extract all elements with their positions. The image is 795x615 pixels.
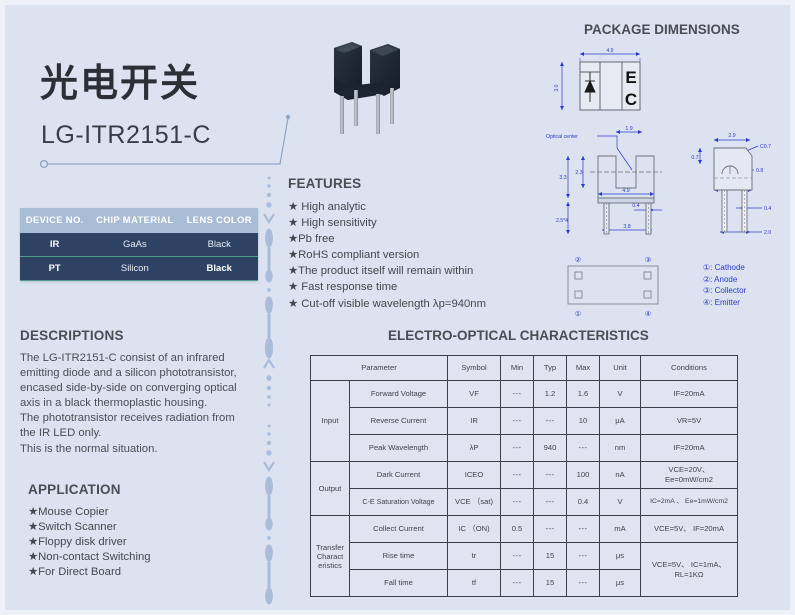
list-item: ★Floppy disk driver <box>28 535 151 550</box>
datasheet-page: 光电开关 LG-ITR2151-C DEVICE NO. CHIP MATERI… <box>0 0 795 615</box>
descriptions-body: The LG-ITR2151-C consist of an infrared … <box>20 351 270 457</box>
eoc-typ: 15 <box>534 570 567 597</box>
eoc-parameter: Forward Voltage <box>350 381 448 408</box>
dim-pin-pitch: 3.8 <box>623 224 630 230</box>
application-list: ★Mouse Copier ★Switch Scanner ★Floppy di… <box>28 505 151 580</box>
pad-number-4: ④ <box>645 310 651 318</box>
electro-optical-heading: ELECTRO-OPTICAL CHARACTERISTICS <box>388 328 649 343</box>
dim-aperture: 0.8 <box>756 168 763 174</box>
eoc-unit: V <box>600 489 641 516</box>
dim-body-height: 3.3 <box>559 175 566 181</box>
dim-slot-depth: 2.3 <box>575 170 582 176</box>
descriptions-heading: DESCRIPTIONS <box>20 328 124 343</box>
eoc-unit: nm <box>600 435 641 462</box>
eoc-max: 1.6 <box>567 381 600 408</box>
eoc-parameter: C-E Saturation Voltage <box>350 489 448 516</box>
features-list: ★ High analytic ★ High sensitivity ★Pb f… <box>288 199 486 312</box>
pin-legend-item: ③: Collector <box>703 285 746 297</box>
eoc-parameter: Peak Wavelength <box>350 435 448 462</box>
eoc-conditions: IF=20mA <box>641 381 738 408</box>
eoc-col-parameter: Parameter <box>311 356 448 381</box>
eoc-unit: V <box>600 381 641 408</box>
lens-color-pt: Black <box>180 257 258 281</box>
device-table-col-lens-color: LENS COLOR <box>180 208 258 233</box>
eoc-min: --- <box>501 462 534 489</box>
descriptions-line: the IR LED only. <box>20 426 270 441</box>
eoc-symbol: IC （ON) <box>448 516 501 543</box>
table-row: Input Forward Voltage VF --- 1.2 1.6 V I… <box>311 381 738 408</box>
features-heading: FEATURES <box>288 176 361 191</box>
descriptions-line: encased side-by-side on converging optic… <box>20 381 270 396</box>
eoc-conditions: IC=2mA 、 Ee=1mW/cm2 <box>641 489 738 516</box>
eoc-min: --- <box>501 570 534 597</box>
lens-color-ir: Black <box>180 233 258 257</box>
eoc-col-unit: Unit <box>600 356 641 381</box>
eoc-min: --- <box>501 381 534 408</box>
descriptions-line: emitting diode and a silicon phototransi… <box>20 366 270 381</box>
eoc-group-input: Input <box>311 381 350 462</box>
list-item: ★For Direct Board <box>28 565 151 580</box>
device-table-col-chip-material: CHIP MATERIAL <box>89 208 180 233</box>
eoc-max: 100 <box>567 462 600 489</box>
eoc-typ: 1.2 <box>534 381 567 408</box>
eoc-max: --- <box>567 435 600 462</box>
package-top-view-drawing: 4.9 3.0 E C <box>548 48 658 120</box>
leader-line-decoration <box>40 112 300 172</box>
eoc-conditions: VCE=20V、 Ee=0mW/cm2 <box>641 462 738 489</box>
product-photo <box>318 30 438 150</box>
eoc-max: 10 <box>567 408 600 435</box>
eoc-typ: --- <box>534 462 567 489</box>
eoc-parameter: Collect Current <box>350 516 448 543</box>
application-heading: APPLICATION <box>28 482 121 497</box>
device-table-header-row: DEVICE NO. CHIP MATERIAL LENS COLOR <box>20 208 258 233</box>
eoc-max: --- <box>567 543 600 570</box>
eoc-parameter: Reverse Current <box>350 408 448 435</box>
eoc-col-conditions: Conditions <box>641 356 738 381</box>
dim-pin-length: 2.5*4 <box>556 218 568 224</box>
eoc-min: 0.5 <box>501 516 534 543</box>
pin-legend-item: ②: Anode <box>703 274 746 286</box>
eoc-group-output: Output <box>311 462 350 516</box>
dim-top-height: 3.0 <box>554 84 560 91</box>
eoc-parameter: Rise time <box>350 543 448 570</box>
table-row: PT Silicon Black <box>20 257 258 281</box>
list-item: ★ Fast response time <box>288 279 486 295</box>
eoc-symbol: λP <box>448 435 501 462</box>
eoc-unit: μs <box>600 570 641 597</box>
dim-body-width: 4.9 <box>622 188 629 194</box>
descriptions-line: The phototransistor receives radiation f… <box>20 411 270 426</box>
table-row: Output Dark Current ICEO --- --- 100 nA … <box>311 462 738 489</box>
list-item: ★The product itself will remain within <box>288 263 486 279</box>
eoc-typ: --- <box>534 489 567 516</box>
eoc-typ: --- <box>534 516 567 543</box>
descriptions-line: The LG-ITR2151-C consist of an infrared <box>20 351 270 366</box>
eoc-typ: 940 <box>534 435 567 462</box>
package-footprint-drawing: ② ③ ① ④ <box>552 250 682 320</box>
pin-label-e: E <box>625 68 636 87</box>
electro-optical-table: Parameter Symbol Min Typ Max Unit Condit… <box>310 355 738 597</box>
eoc-parameter: Dark Current <box>350 462 448 489</box>
eoc-symbol: tf <box>448 570 501 597</box>
eoc-conditions: IF=20mA <box>641 435 738 462</box>
eoc-col-typ: Typ <box>534 356 567 381</box>
table-row: Rise time tr --- 15 --- μs VCE=5V、 IC=1m… <box>311 543 738 570</box>
list-item: ★Switch Scanner <box>28 520 151 535</box>
eoc-parameter: Fall time <box>350 570 448 597</box>
dim-end-pin-pitch: 2.0 <box>764 230 771 236</box>
eoc-max: --- <box>567 516 600 543</box>
eoc-max: 0.4 <box>567 489 600 516</box>
pad-number-1: ① <box>575 310 581 318</box>
eoc-min: --- <box>501 435 534 462</box>
device-no-ir: IR <box>20 233 89 257</box>
eoc-symbol: ICEO <box>448 462 501 489</box>
vertical-ornament-divider <box>256 172 282 612</box>
eoc-min: --- <box>501 543 534 570</box>
table-row: Peak Wavelength λP --- 940 --- nm IF=20m… <box>311 435 738 462</box>
dim-end-pin-width: 0.4 <box>764 206 771 212</box>
eoc-col-min: Min <box>501 356 534 381</box>
chip-material-pt: Silicon <box>89 257 180 281</box>
dim-top-offset: 0.7 <box>691 155 698 161</box>
package-dimensions-heading: PACKAGE DIMENSIONS <box>584 22 740 37</box>
eoc-max: --- <box>567 570 600 597</box>
table-row: C-E Saturation Voltage VCE （sat) --- ---… <box>311 489 738 516</box>
eoc-unit: μs <box>600 543 641 570</box>
eoc-typ: --- <box>534 408 567 435</box>
device-table: DEVICE NO. CHIP MATERIAL LENS COLOR IR G… <box>20 208 258 281</box>
eoc-symbol: IR <box>448 408 501 435</box>
list-item: ★Pb free <box>288 231 486 247</box>
eoc-unit: μA <box>600 408 641 435</box>
table-row: IR GaAs Black <box>20 233 258 257</box>
dim-chamfer: C0.7 <box>760 144 771 150</box>
pin-legend-item: ①: Cathode <box>703 262 746 274</box>
pad-number-2: ② <box>575 256 581 264</box>
eoc-symbol: VCE （sat) <box>448 489 501 516</box>
eoc-col-symbol: Symbol <box>448 356 501 381</box>
optical-center-label: Optical center <box>546 134 578 140</box>
chip-material-ir: GaAs <box>89 233 180 257</box>
table-row: Transfer Charact eristics Collect Curren… <box>311 516 738 543</box>
eoc-conditions: VCE=5V、 IF=20mA <box>641 516 738 543</box>
eoc-header-row: Parameter Symbol Min Typ Max Unit Condit… <box>311 356 738 381</box>
list-item: ★Mouse Copier <box>28 505 151 520</box>
eoc-col-max: Max <box>567 356 600 381</box>
pad-number-3: ③ <box>645 256 651 264</box>
package-side-view-drawing: Optical center 1.9 2.3 3.3 4.9 <box>542 126 682 240</box>
descriptions-line: This is the normal situation. <box>20 442 270 457</box>
eoc-unit: mA <box>600 516 641 543</box>
list-item: ★RoHS compliant version <box>288 247 486 263</box>
pin-legend: ①: Cathode ②: Anode ③: Collector ④: Emit… <box>703 262 746 308</box>
eoc-min: --- <box>501 489 534 516</box>
pin-label-c: C <box>625 90 637 109</box>
dim-slot-width: 1.9 <box>625 126 632 132</box>
list-item: ★ High analytic <box>288 199 486 215</box>
device-no-pt: PT <box>20 257 89 281</box>
dim-top-width: 4.9 <box>607 48 614 54</box>
dim-pin-width: 0.4 <box>632 203 639 209</box>
eoc-conditions: VR=5V <box>641 408 738 435</box>
eoc-conditions: VCE=5V、 IC=1mA、 RL=1KΩ <box>641 543 738 597</box>
eoc-unit: nA <box>600 462 641 489</box>
eoc-symbol: VF <box>448 381 501 408</box>
list-item: ★Non-contact Switching <box>28 550 151 565</box>
eoc-min: --- <box>501 408 534 435</box>
list-item: ★ Cut-off visible wavelength λp=940nm <box>288 296 486 312</box>
dim-end-width: 2.9 <box>728 133 735 139</box>
page-title-chinese: 光电开关 <box>40 52 200 107</box>
eoc-symbol: tr <box>448 543 501 570</box>
device-table-col-device-no: DEVICE NO. <box>20 208 89 233</box>
pin-legend-item: ④: Emitter <box>703 297 746 309</box>
list-item: ★ High sensitivity <box>288 215 486 231</box>
eoc-group-transfer: Transfer Charact eristics <box>311 516 350 597</box>
table-row: Reverse Current IR --- --- 10 μA VR=5V <box>311 408 738 435</box>
descriptions-line: axis in a black thermoplastic housing. <box>20 396 270 411</box>
package-end-view-drawing: 2.9 0.7 C0.7 0.8 3.0 0.4 2.0 <box>686 126 790 242</box>
eoc-typ: 15 <box>534 543 567 570</box>
